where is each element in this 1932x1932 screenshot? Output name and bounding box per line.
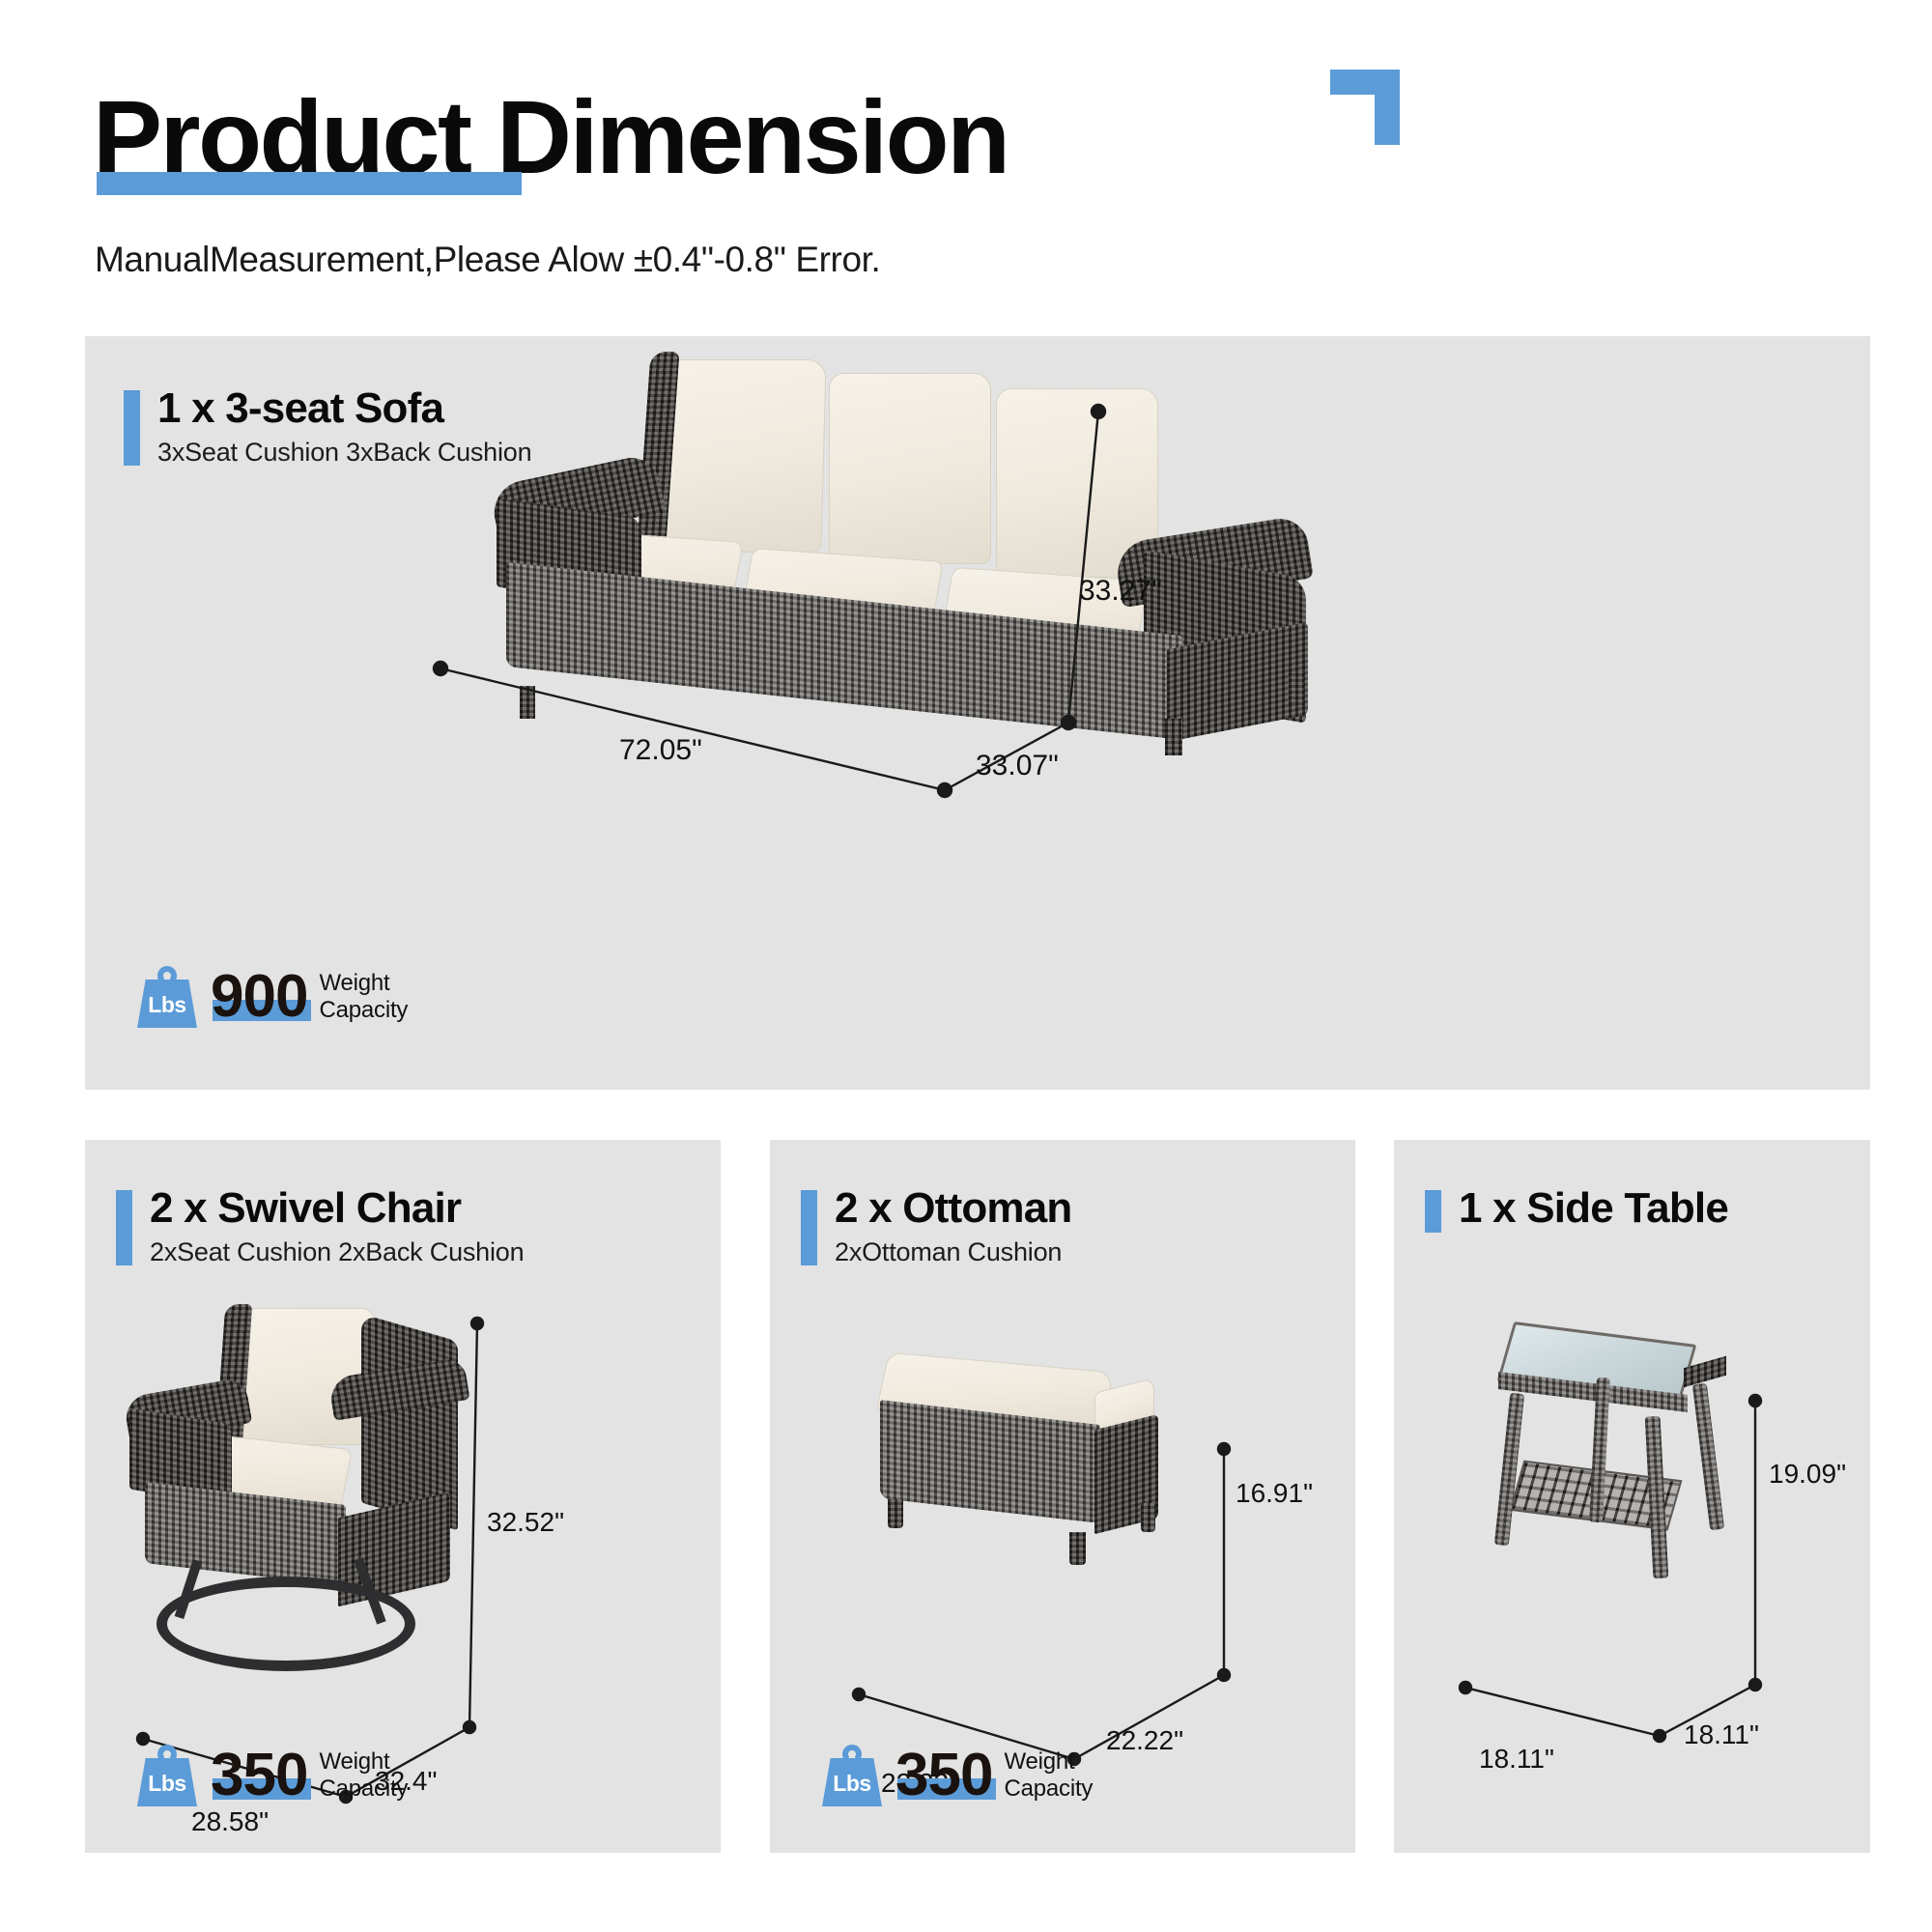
measurement-disclaimer: ManualMeasurement,Please Alow ±0.4"-0.8"… — [95, 240, 880, 280]
sofa-depth-label: 33.07" — [976, 750, 1059, 782]
weight-icon-body: Lbs — [137, 1758, 197, 1806]
sidetable-depth-label: 18.11" — [1684, 1719, 1759, 1750]
weight-caption-line2: Capacity — [1004, 1776, 1093, 1803]
sofa-width-label: 72.05" — [619, 734, 702, 767]
weight-caption-line1: Weight — [319, 970, 408, 997]
chair-height-label: 32.52" — [487, 1507, 564, 1538]
card-subtitle-ottoman: 2xOttoman Cushion — [835, 1237, 1071, 1267]
weight-icon-body: Lbs — [822, 1758, 882, 1806]
weight-caption: Weight Capacity — [319, 970, 408, 1025]
card-title-ottoman: 2 x Ottoman — [835, 1186, 1071, 1232]
sidetable-width-label: 18.11" — [1479, 1744, 1554, 1775]
weight-unit-label: Lbs — [833, 1771, 870, 1797]
card-header-ottoman: 2 x Ottoman 2xOttoman Cushion — [801, 1186, 1071, 1267]
weight-unit-label: Lbs — [148, 992, 185, 1018]
corner-bracket-icon — [1330, 70, 1400, 145]
sofa-leg-back — [1289, 672, 1304, 705]
card-subtitle-chair: 2xSeat Cushion 2xBack Cushion — [150, 1237, 524, 1267]
page-header: Product Dimension ManualMeasurement,Plea… — [0, 0, 1932, 319]
sofa-height-label: 33.27" — [1079, 575, 1162, 608]
weight-capacity-badge-ottoman: Lbs 350 Weight Capacity — [822, 1745, 1093, 1806]
weight-value-wrap: 900 — [211, 969, 307, 1026]
card-title-sidetable: 1 x Side Table — [1459, 1186, 1728, 1232]
weight-capacity-badge-chair: Lbs 350 Weight Capacity — [137, 1745, 408, 1806]
weight-value-sofa: 900 — [211, 969, 307, 1026]
weight-icon: Lbs — [822, 1745, 882, 1806]
weight-icon: Lbs — [137, 966, 197, 1028]
sofa-illustration — [423, 346, 1447, 752]
sofa-back-cushion-1 — [662, 359, 826, 553]
sofa-leg-left — [520, 686, 535, 719]
sidetable-height-label: 19.09" — [1769, 1459, 1846, 1490]
title-underline-accent — [97, 172, 522, 195]
weight-caption-line1: Weight — [319, 1748, 408, 1776]
accent-bar-icon — [116, 1190, 132, 1265]
weight-caption-line2: Capacity — [319, 1776, 408, 1803]
sidetable-illustration — [1469, 1323, 1749, 1642]
weight-caption-line1: Weight — [1004, 1748, 1093, 1776]
weight-value-chair: 350 — [211, 1747, 307, 1804]
sofa-leg-right — [1165, 719, 1182, 755]
weight-value-ottoman: 350 — [895, 1747, 992, 1804]
card-header-chair: 2 x Swivel Chair 2xSeat Cushion 2xBack C… — [116, 1186, 524, 1267]
chair-width-label: 28.58" — [191, 1806, 269, 1837]
weight-value-wrap: 350 — [211, 1747, 307, 1804]
weight-unit-label: Lbs — [148, 1771, 185, 1797]
ottoman-leg-front-right — [1069, 1532, 1086, 1565]
weight-caption: Weight Capacity — [1004, 1748, 1093, 1804]
ottoman-depth-label: 22.22" — [1106, 1725, 1183, 1756]
card-header-sidetable: 1 x Side Table — [1425, 1186, 1728, 1233]
corner-bracket-vertical — [1375, 70, 1400, 145]
weight-icon-body: Lbs — [137, 980, 197, 1028]
weight-icon: Lbs — [137, 1745, 197, 1806]
weight-caption-line2: Capacity — [319, 997, 408, 1024]
chair-illustration — [124, 1304, 510, 1710]
ottoman-illustration — [867, 1362, 1176, 1613]
ottoman-height-label: 16.91" — [1236, 1478, 1313, 1509]
weight-value-wrap: 350 — [895, 1747, 992, 1804]
ottoman-leg-back-right — [1141, 1503, 1155, 1532]
card-title-chair: 2 x Swivel Chair — [150, 1186, 524, 1232]
weight-caption: Weight Capacity — [319, 1748, 408, 1804]
product-card-sidetable: 1 x Side Table 18.11" 18.11" 19.09" — [1394, 1140, 1870, 1853]
accent-bar-icon — [1425, 1190, 1441, 1233]
sofa-back-cushion-2 — [829, 373, 991, 564]
sidetable-leg-back-right — [1692, 1383, 1724, 1531]
accent-bar-icon — [124, 390, 140, 466]
ottoman-leg-front-left — [888, 1499, 903, 1528]
accent-bar-icon — [801, 1190, 817, 1265]
weight-capacity-badge-sofa: Lbs 900 Weight Capacity — [137, 966, 408, 1028]
